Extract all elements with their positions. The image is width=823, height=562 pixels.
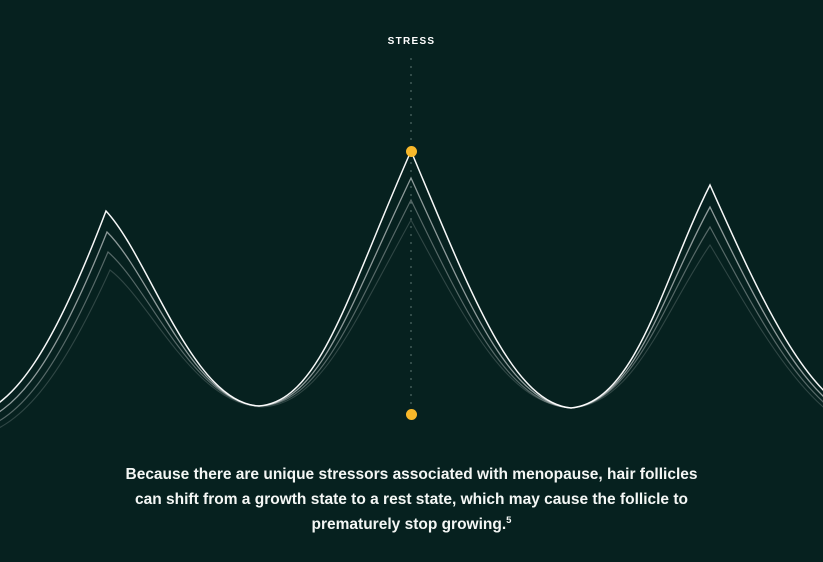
- stress-wave-visualization: STRESS Because there are unique stressor…: [0, 0, 823, 562]
- caption-footnote-reference: 5: [506, 515, 511, 526]
- stress-baseline-marker: [406, 409, 417, 420]
- caption-text: Because there are unique stressors assoc…: [126, 466, 698, 533]
- caption-block: Because there are unique stressors assoc…: [112, 462, 712, 537]
- stress-peak-marker: [406, 146, 417, 157]
- wave-curve-1: [0, 151, 823, 418]
